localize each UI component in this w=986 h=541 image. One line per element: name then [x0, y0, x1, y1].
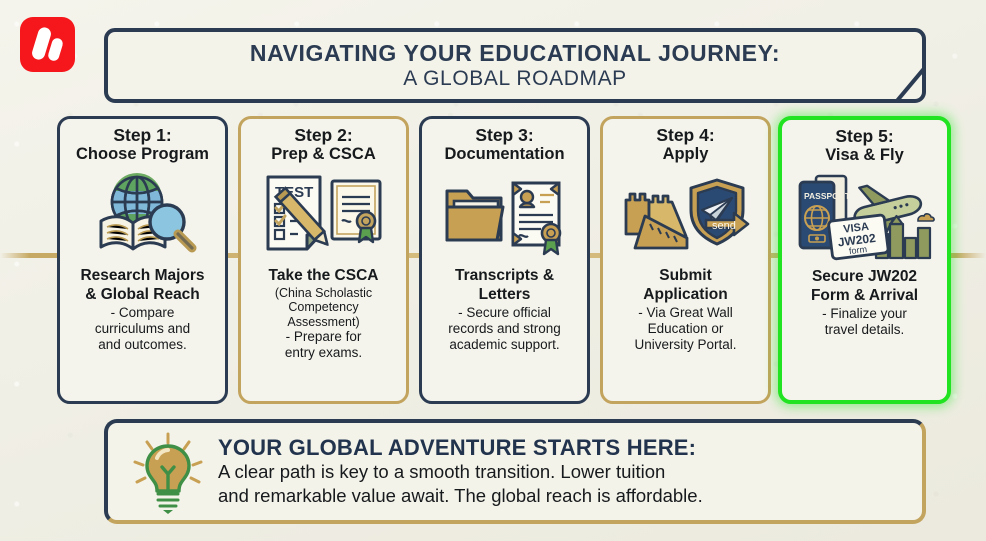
- step-1-label: Step 1:: [76, 126, 209, 145]
- step-3-name: Documentation: [444, 145, 564, 163]
- step-1-headline2: & Global Reach: [80, 286, 204, 304]
- footer-headline: YOUR GLOBAL ADVENTURE STARTS HERE:: [218, 435, 908, 460]
- footer-body-line-1: A clear path is key to a smooth transiti…: [218, 461, 908, 484]
- step-4-detail-2: University Portal.: [634, 337, 736, 353]
- step-5-detail-0: - Finalize your: [811, 306, 918, 322]
- step-1-detail-1: curriculums and: [80, 321, 204, 337]
- step-1-detail-2: and outcomes.: [80, 337, 204, 353]
- step-2-detail-4: entry exams.: [269, 345, 379, 361]
- company-logo-icon: [20, 17, 75, 72]
- step-3-detail-2: academic support.: [448, 337, 561, 353]
- title-line-secondary: A GLOBAL ROADMAP: [108, 66, 922, 91]
- footer-body-line-2: and remarkable value await. The global r…: [218, 485, 908, 508]
- step-3-headline: Transcripts &: [448, 267, 561, 285]
- step-3-body: Transcripts & Letters - Secure official …: [448, 267, 561, 352]
- step-card-4[interactable]: Step 4: Apply send S: [600, 116, 771, 404]
- step-2-detail-1: Competency: [269, 300, 379, 314]
- globe-book-magnifier-icon: [65, 167, 220, 263]
- step-5-heading: Step 5: Visa & Fly: [825, 127, 904, 164]
- step-1-headline: Research Majors: [80, 267, 204, 285]
- step-4-name: Apply: [656, 145, 714, 163]
- step-3-heading: Step 3: Documentation: [444, 126, 564, 163]
- passport-label: PASSPORT: [804, 191, 851, 201]
- step-5-detail-1: travel details.: [811, 322, 918, 338]
- step-5-label: Step 5:: [825, 127, 904, 146]
- step-1-name: Choose Program: [76, 145, 209, 163]
- title-banner: NAVIGATING YOUR EDUCATIONAL JOURNEY: A G…: [104, 28, 926, 103]
- step-5-headline: Secure JW202: [811, 268, 918, 286]
- great-wall-shield-send-icon: send: [608, 167, 763, 263]
- step-card-5[interactable]: Step 5: Visa & Fly PASSPORT: [778, 116, 951, 404]
- step-2-headline: Take the CSCA: [269, 267, 379, 285]
- step-3-label: Step 3:: [444, 126, 564, 145]
- step-5-body: Secure JW202 Form & Arrival - Finalize y…: [811, 268, 918, 337]
- step-5-headline2: Form & Arrival: [811, 287, 918, 305]
- footer-text-block: YOUR GLOBAL ADVENTURE STARTS HERE: A cle…: [214, 435, 908, 507]
- passport-visa-airplane-skyline-icon: PASSPORT: [787, 168, 942, 264]
- steps-row: Step 1: Choose Program: [0, 116, 986, 406]
- page-title: NAVIGATING YOUR EDUCATIONAL JOURNEY: A G…: [108, 40, 922, 92]
- step-4-detail-0: - Via Great Wall: [634, 305, 736, 321]
- step-2-name: Prep & CSCA: [271, 145, 376, 163]
- step-4-headline: Submit: [634, 267, 736, 285]
- folder-document-seal-icon: [427, 167, 582, 263]
- step-3-detail-1: records and strong: [448, 321, 561, 337]
- footer-banner: YOUR GLOBAL ADVENTURE STARTS HERE: A cle…: [104, 419, 926, 524]
- step-4-detail-1: Education or: [634, 321, 736, 337]
- step-4-heading: Step 4: Apply: [656, 126, 714, 163]
- step-5-name: Visa & Fly: [825, 146, 904, 164]
- step-2-heading: Step 2: Prep & CSCA: [271, 126, 376, 163]
- step-2-detail-0: (China Scholastic: [269, 286, 379, 300]
- logo-bar-right: [47, 37, 64, 62]
- step-1-body: Research Majors & Global Reach - Compare…: [80, 267, 204, 352]
- step-1-detail-0: - Compare: [80, 305, 204, 321]
- step-card-1[interactable]: Step 1: Choose Program: [57, 116, 228, 404]
- step-2-detail-2: Assessment): [269, 315, 379, 329]
- step-card-3[interactable]: Step 3: Documentation: [419, 116, 590, 404]
- step-4-label: Step 4:: [656, 126, 714, 145]
- test-paper-pencil-certificate-icon: TEST: [246, 167, 401, 263]
- step-1-heading: Step 1: Choose Program: [76, 126, 209, 163]
- lightbulb-icon: [122, 430, 214, 514]
- step-4-headline2: Application: [634, 286, 736, 304]
- step-card-2[interactable]: Step 2: Prep & CSCA TEST: [238, 116, 409, 404]
- step-2-detail-3: - Prepare for: [269, 329, 379, 345]
- send-badge-label: send: [712, 220, 736, 232]
- title-line-primary: NAVIGATING YOUR EDUCATIONAL JOURNEY:: [108, 40, 922, 67]
- step-3-detail-0: - Secure official: [448, 305, 561, 321]
- step-4-body: Submit Application - Via Great Wall Educ…: [634, 267, 736, 352]
- step-2-body: Take the CSCA (China Scholastic Competen…: [269, 267, 379, 360]
- step-2-label: Step 2:: [271, 126, 376, 145]
- step-3-headline2: Letters: [448, 286, 561, 304]
